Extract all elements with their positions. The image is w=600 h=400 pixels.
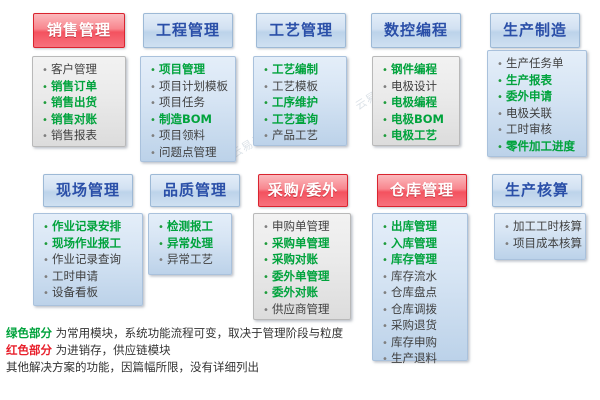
bullet-icon: •	[260, 97, 272, 112]
card-header-shopfloor[interactable]: 现场管理	[43, 174, 133, 207]
card-body-costing: •加工工时核算 •项目成本核算	[494, 213, 586, 260]
list-item[interactable]: •申购单管理	[260, 219, 346, 236]
bullet-icon: •	[39, 114, 51, 129]
bullet-icon: •	[40, 221, 52, 236]
bullet-icon: •	[379, 114, 391, 129]
bullet-icon: •	[494, 141, 506, 156]
list-item[interactable]: •设备看板	[40, 285, 138, 302]
bullet-icon: •	[494, 58, 506, 73]
bullet-icon: •	[260, 304, 272, 319]
legend: 绿色部分 为常用模块，系统功能流程可变，取决于管理阶段与粒度 红色部分 为进销存…	[6, 325, 426, 376]
bullet-icon: •	[40, 287, 52, 302]
bullet-icon: •	[260, 238, 272, 253]
card-header-costing[interactable]: 生产核算	[492, 174, 582, 207]
card-header-manufacturing[interactable]: 生产制造	[490, 13, 580, 48]
list-item[interactable]: •项目领料	[147, 128, 231, 145]
list-item[interactable]: •生产报表	[494, 73, 582, 90]
bullet-icon: •	[155, 221, 167, 236]
list-item[interactable]: •异常工艺	[155, 252, 227, 269]
legend-red-tag: 红色部分	[6, 343, 52, 357]
bullet-icon: •	[379, 287, 391, 302]
bullet-icon: •	[494, 108, 506, 123]
list-item[interactable]: •销售对账	[39, 112, 121, 129]
card-body-manufacturing: •生产任务单 •生产报表 •委外申请 •电极关联 •工时审核 •零件加工进度	[487, 50, 587, 157]
bullet-icon: •	[147, 81, 159, 96]
list-item[interactable]: •项目任务	[147, 95, 231, 112]
list-item[interactable]: •作业记录安排	[40, 219, 138, 236]
bullet-icon: •	[39, 64, 51, 79]
list-item[interactable]: •电极工艺	[379, 128, 455, 145]
list-item[interactable]: •委外对账	[260, 285, 346, 302]
bullet-icon: •	[379, 238, 391, 253]
list-item[interactable]: •问题点管理	[147, 145, 231, 162]
list-item[interactable]: •采购对账	[260, 252, 346, 269]
legend-green-text: 为常用模块，系统功能流程可变，取决于管理阶段与粒度	[52, 326, 343, 340]
list-item[interactable]: •工艺模板	[260, 79, 342, 96]
list-item[interactable]: •工艺查询	[260, 112, 342, 129]
card-header-warehouse[interactable]: 仓库管理	[377, 174, 467, 207]
card-body-shopfloor: •作业记录安排 •现场作业报工 •作业记录查询 •工时申请 •设备看板	[33, 213, 143, 306]
bullet-icon: •	[379, 81, 391, 96]
bullet-icon: •	[40, 238, 52, 253]
legend-green-tag: 绿色部分	[6, 326, 52, 340]
list-item[interactable]: •生产任务单	[494, 56, 582, 73]
item-list-process: •工艺编制 •工艺模板 •工序维护 •工艺查询 •产品工艺	[260, 62, 342, 145]
bullet-icon: •	[379, 130, 391, 145]
card-body-process: •工艺编制 •工艺模板 •工序维护 •工艺查询 •产品工艺	[253, 56, 347, 146]
list-item[interactable]: •采购单管理	[260, 236, 346, 253]
list-item[interactable]: •项目管理	[147, 62, 231, 79]
list-item[interactable]: •库存流水	[379, 269, 463, 286]
bullet-icon: •	[494, 91, 506, 106]
list-item[interactable]: •检测报工	[155, 219, 227, 236]
item-list-manufacturing: •生产任务单 •生产报表 •委外申请 •电极关联 •工时审核 •零件加工进度	[494, 56, 582, 155]
card-header-engineering[interactable]: 工程管理	[143, 13, 233, 48]
item-list-quality: •检测报工 •异常处理 •异常工艺	[155, 219, 227, 269]
list-item[interactable]: •出库管理	[379, 219, 463, 236]
list-item[interactable]: •入库管理	[379, 236, 463, 253]
item-list-sales: •客户管理 •销售订单 •销售出货 •销售对账 •销售报表	[39, 62, 121, 145]
item-list-cnc: •钢件编程 •电极设计 •电极编程 •电极BOM •电极工艺	[379, 62, 455, 145]
list-item[interactable]: •工艺编制	[260, 62, 342, 79]
bullet-icon: •	[260, 254, 272, 269]
bullet-icon: •	[260, 221, 272, 236]
card-header-sales[interactable]: 销售管理	[33, 13, 125, 48]
list-item[interactable]: •加工工时核算	[501, 219, 581, 236]
bullet-icon: •	[147, 147, 159, 162]
card-body-cnc: •钢件编程 •电极设计 •电极编程 •电极BOM •电极工艺	[372, 56, 460, 146]
list-item[interactable]: •现场作业报工	[40, 236, 138, 253]
card-header-quality[interactable]: 品质管理	[150, 174, 240, 207]
list-item[interactable]: •电极BOM	[379, 112, 455, 129]
legend-line-red: 红色部分 为进销存，供应链模块	[6, 342, 426, 359]
list-item[interactable]: •项目计划模板	[147, 79, 231, 96]
bullet-icon: •	[494, 124, 506, 139]
item-list-shopfloor: •作业记录安排 •现场作业报工 •作业记录查询 •工时申请 •设备看板	[40, 219, 138, 302]
bullet-icon: •	[40, 271, 52, 286]
list-item[interactable]: •电极编程	[379, 95, 455, 112]
list-item[interactable]: •项目成本核算	[501, 236, 581, 253]
list-item[interactable]: •销售订单	[39, 79, 121, 96]
list-item[interactable]: •委外申请	[494, 89, 582, 106]
bullet-icon: •	[39, 97, 51, 112]
list-item[interactable]: •库存管理	[379, 252, 463, 269]
card-header-process[interactable]: 工艺管理	[256, 13, 346, 48]
list-item[interactable]: •工时审核	[494, 122, 582, 139]
bullet-icon: •	[40, 254, 52, 269]
bullet-icon: •	[501, 221, 513, 236]
legend-line-green: 绿色部分 为常用模块，系统功能流程可变，取决于管理阶段与粒度	[6, 325, 426, 342]
list-item[interactable]: •客户管理	[39, 62, 121, 79]
list-item[interactable]: •工时申请	[40, 269, 138, 286]
bullet-icon: •	[260, 81, 272, 96]
list-item[interactable]: •供应商管理	[260, 302, 346, 319]
bullet-icon: •	[379, 304, 391, 319]
bullet-icon: •	[39, 81, 51, 96]
bullet-icon: •	[379, 64, 391, 79]
bullet-icon: •	[147, 114, 159, 129]
list-item[interactable]: •销售报表	[39, 128, 121, 145]
card-header-cnc[interactable]: 数控编程	[371, 13, 461, 48]
bullet-icon: •	[155, 238, 167, 253]
bullet-icon: •	[260, 287, 272, 302]
bullet-icon: •	[147, 97, 159, 112]
card-body-quality: •检测报工 •异常处理 •异常工艺	[148, 213, 232, 275]
card-body-engineering: •项目管理 •项目计划模板 •项目任务 •制造BOM •项目领料 •问题点管理	[140, 56, 236, 162]
bullet-icon: •	[379, 271, 391, 286]
item-list-purchase: •申购单管理 •采购单管理 •采购对账 •委外单管理 •委外对账 •供应商管理	[260, 219, 346, 318]
bullet-icon: •	[379, 221, 391, 236]
bullet-icon: •	[147, 64, 159, 79]
list-item[interactable]: •工序维护	[260, 95, 342, 112]
bullet-icon: •	[379, 254, 391, 269]
bullet-icon: •	[155, 254, 167, 269]
legend-red-text: 为进销存，供应链模块	[52, 343, 171, 357]
bullet-icon: •	[501, 238, 513, 253]
card-body-purchase: •申购单管理 •采购单管理 •采购对账 •委外单管理 •委外对账 •供应商管理	[253, 213, 351, 320]
bullet-icon: •	[260, 271, 272, 286]
list-item[interactable]: •零件加工进度	[494, 139, 582, 156]
bullet-icon: •	[147, 130, 159, 145]
list-item[interactable]: •电极设计	[379, 79, 455, 96]
list-item[interactable]: •产品工艺	[260, 128, 342, 145]
list-item[interactable]: •钢件编程	[379, 62, 455, 79]
bullet-icon: •	[260, 114, 272, 129]
list-item[interactable]: •委外单管理	[260, 269, 346, 286]
list-item[interactable]: •异常处理	[155, 236, 227, 253]
list-item[interactable]: •销售出货	[39, 95, 121, 112]
card-body-sales: •客户管理 •销售订单 •销售出货 •销售对账 •销售报表	[32, 56, 126, 147]
bullet-icon: •	[260, 130, 272, 145]
legend-line-note: 其他解决方案的功能，因篇幅所限，没有详细列出	[6, 359, 426, 376]
bullet-icon: •	[39, 130, 51, 145]
list-item[interactable]: •仓库盘点	[379, 285, 463, 302]
item-list-engineering: •项目管理 •项目计划模板 •项目任务 •制造BOM •项目领料 •问题点管理	[147, 62, 231, 161]
card-header-purchase[interactable]: 采购/委外	[258, 174, 348, 207]
bullet-icon: •	[260, 64, 272, 79]
diagram-canvas: 云易云软件www.com 云易云软件 云易云软件www 销售管理 •客户管理 •…	[0, 0, 600, 400]
bullet-icon: •	[379, 97, 391, 112]
list-item[interactable]: •电极关联	[494, 106, 582, 123]
list-item[interactable]: •制造BOM	[147, 112, 231, 129]
item-list-costing: •加工工时核算 •项目成本核算	[501, 219, 581, 252]
list-item[interactable]: •作业记录查询	[40, 252, 138, 269]
bullet-icon: •	[494, 75, 506, 90]
list-item[interactable]: •仓库调拨	[379, 302, 463, 319]
